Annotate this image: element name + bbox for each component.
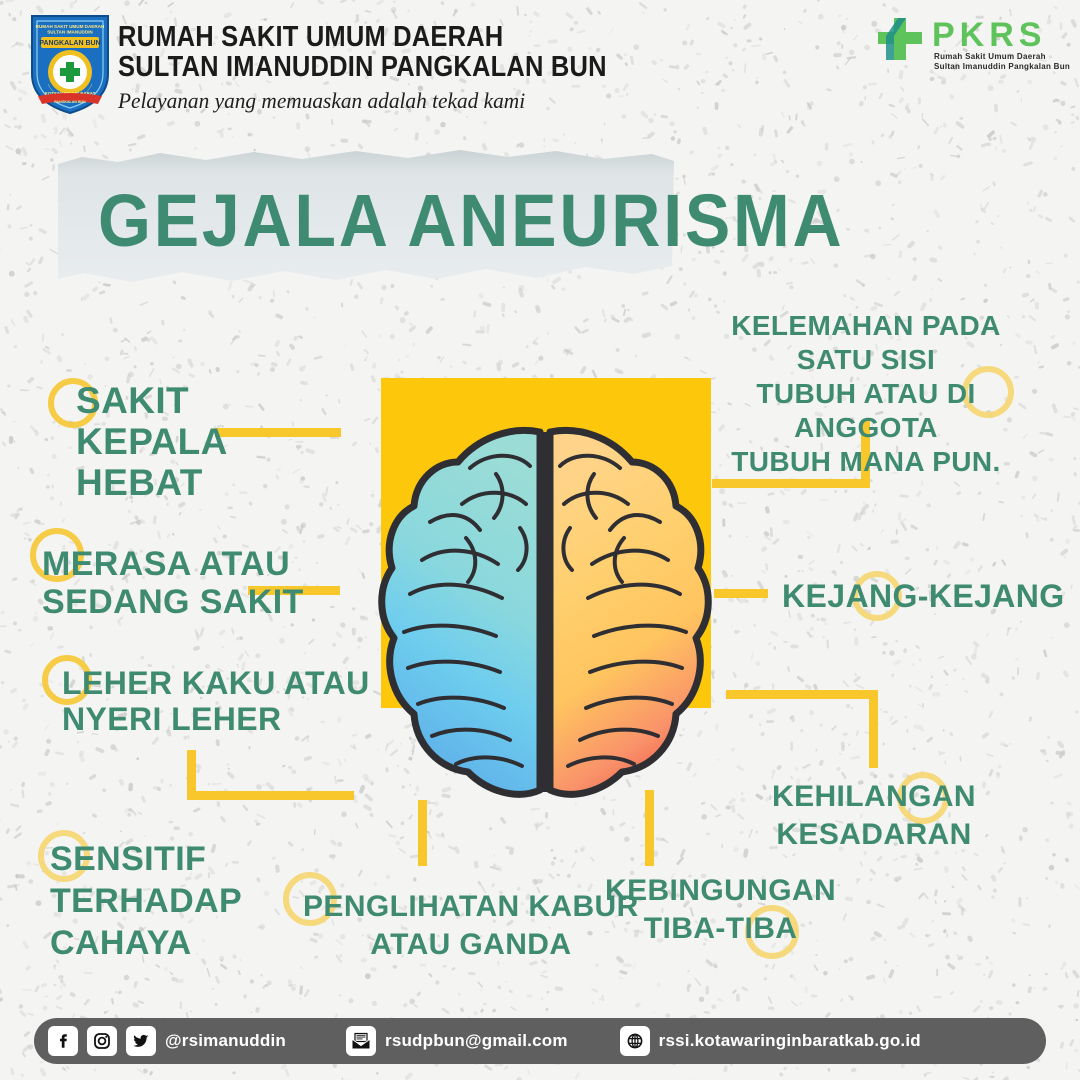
pkrs-cross-icon	[874, 16, 928, 64]
facebook-icon[interactable]	[48, 1026, 78, 1056]
instagram-icon[interactable]	[87, 1026, 117, 1056]
footer-website[interactable]: rssi.kotawaringinbaratkab.go.id	[659, 1031, 921, 1051]
title-banner: GEJALA ANEURISMA	[56, 148, 676, 294]
connector-kelemahan-horizontal	[712, 479, 870, 488]
pkrs-wordmark: PKRS	[932, 18, 1046, 52]
twitter-icon[interactable]	[126, 1026, 156, 1056]
symptom-label-merasa-atau-sedang-sakit: MERASA ATAU SEDANG SAKIT	[42, 545, 304, 621]
symptom-label-kelemahan-satu-sisi-tubuh: KELEMAHAN PADA SATU SISI TUBUH ATAU DI A…	[731, 309, 1001, 479]
connector-kehilangan-vertical	[869, 690, 878, 768]
header: RUMAH SAKIT UMUM DAERAH SULTAN IMANUDDIN…	[0, 0, 1080, 130]
infographic-canvas: RUMAH SAKIT UMUM DAERAH SULTAN IMANUDDIN…	[0, 0, 1080, 1080]
footer-contact-bar: @rsimanuddin rsudpbun@gmail.com	[34, 1018, 1046, 1064]
page-title: GEJALA ANEURISMA	[98, 182, 844, 260]
pkrs-logo: PKRS Rumah Sakit Umum Daerah Sultan Iman…	[874, 16, 1054, 78]
hospital-name-line2: SULTAN IMANUDDIN PANGKALAN BUN	[118, 52, 681, 82]
svg-text:SULTAN IMANUDDIN: SULTAN IMANUDDIN	[47, 30, 93, 35]
footer-social-handle[interactable]: @rsimanuddin	[165, 1031, 286, 1051]
email-icon[interactable]	[346, 1026, 376, 1056]
footer-social-group: @rsimanuddin	[48, 1026, 286, 1056]
symptom-label-sensitif-terhadap-cahaya: SENSITIF TERHADAP CAHAYA	[50, 838, 242, 964]
connector-sakit-kepala	[215, 428, 341, 437]
symptom-label-kehilangan-kesadaran: KEHILANGAN KESADARAN	[772, 778, 976, 854]
svg-text:PANGKALAN BUN: PANGKALAN BUN	[39, 40, 100, 47]
footer-email[interactable]: rsudpbun@gmail.com	[385, 1031, 568, 1051]
hospital-tagline: Pelayanan yang memuaskan adalah tekad ka…	[118, 88, 739, 114]
hospital-name: RUMAH SAKIT UMUM DAERAH SULTAN IMANUDDIN…	[118, 22, 758, 114]
symptom-label-kejang-kejang: KEJANG-KEJANG	[782, 578, 1065, 614]
hospital-logo: RUMAH SAKIT UMUM DAERAH SULTAN IMANUDDIN…	[28, 12, 112, 116]
pkrs-subtitle-line1: Rumah Sakit Umum Daerah	[934, 52, 1070, 62]
connector-kehilangan-horizontal	[726, 690, 878, 699]
brain-illustration	[370, 418, 720, 818]
symptom-label-leher-kaku-atau-nyeri-leher: LEHER KAKU ATAU NYERI LEHER	[62, 665, 370, 737]
connector-penglihatan-stub	[418, 800, 427, 866]
connector-kebingungan-stub	[645, 790, 654, 866]
svg-text:PANGKALAN BUN: PANGKALAN BUN	[54, 100, 86, 104]
symptom-label-kebingungan-tiba-tiba: KEBINGUNGAN TIBA-TIBA	[605, 872, 836, 948]
connector-kejang	[714, 589, 768, 598]
connector-leher-horizontal	[187, 791, 354, 800]
globe-icon[interactable]	[620, 1026, 650, 1056]
pkrs-subtitle-line2: Sultan Imanuddin Pangkalan Bun	[934, 62, 1070, 72]
symptom-label-sakit-kepala-hebat: SAKIT KEPALA HEBAT	[76, 380, 228, 503]
svg-text:RUMAH SAKIT UMUM DAERAH: RUMAH SAKIT UMUM DAERAH	[36, 24, 105, 29]
hospital-name-line1: RUMAH SAKIT UMUM DAERAH	[118, 22, 681, 52]
symptom-label-penglihatan-kabur-atau-ganda: PENGLIHATAN KABUR ATAU GANDA	[303, 888, 639, 964]
footer-email-group: rsudpbun@gmail.com	[346, 1026, 568, 1056]
footer-website-group: rssi.kotawaringinbaratkab.go.id	[620, 1026, 921, 1056]
pkrs-subtitle: Rumah Sakit Umum Daerah Sultan Imanuddin…	[934, 52, 1070, 72]
